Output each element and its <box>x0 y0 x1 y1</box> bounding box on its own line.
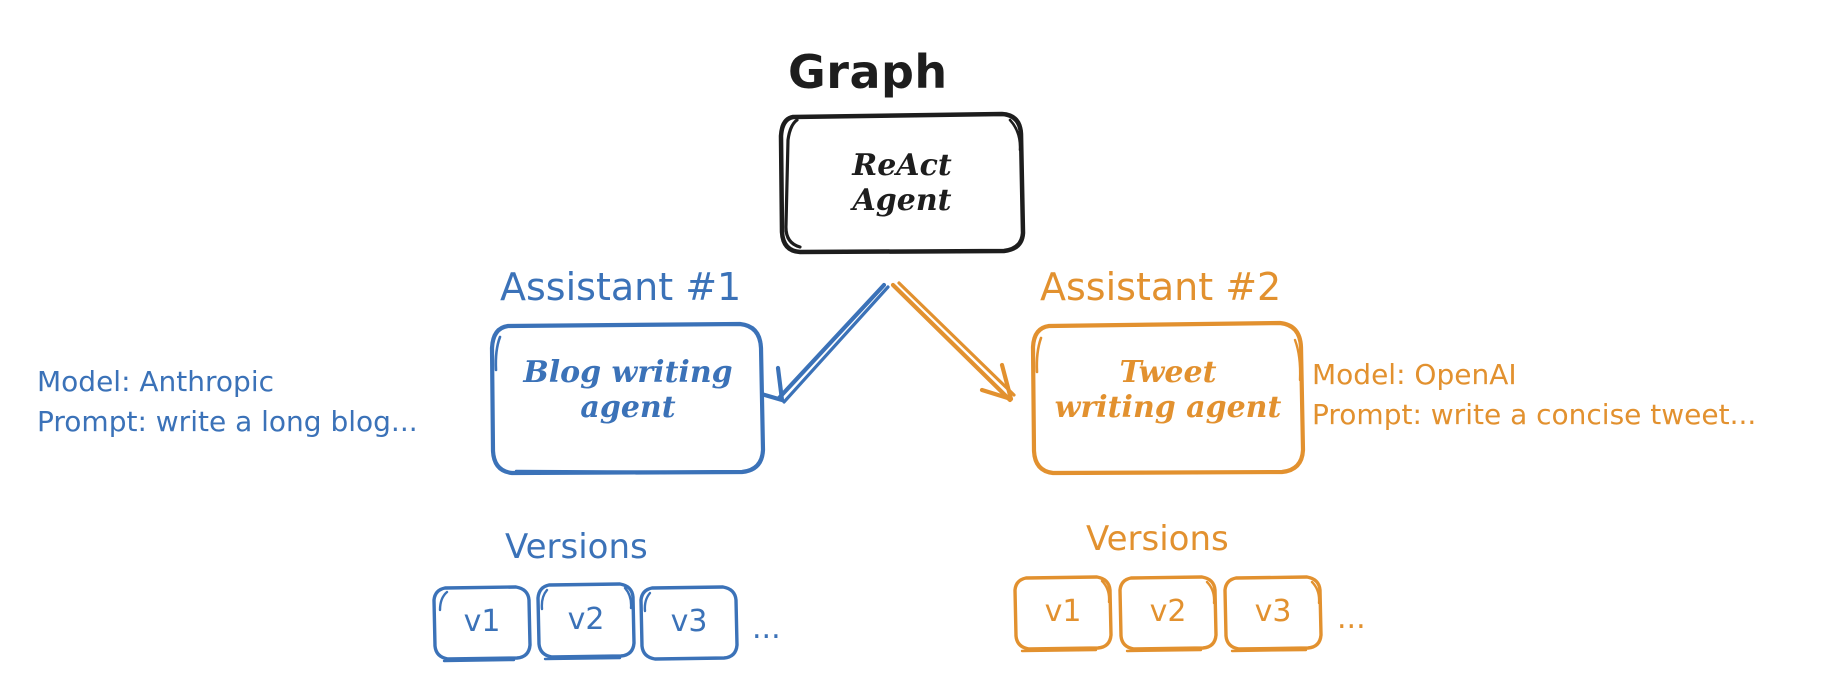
diagram-canvas <box>0 0 1824 692</box>
assistant-1-node-label: Blog writing agent <box>493 355 763 426</box>
assistant-2-version-v1[interactable]: v1 <box>1015 597 1111 627</box>
react-agent-node-label: ReAct Agent <box>782 148 1022 219</box>
assistant-1-versions-more: ... <box>752 614 781 644</box>
assistant-1-model-line: Model: Anthropic <box>37 362 418 402</box>
assistant-2-versions-more: ... <box>1337 604 1366 634</box>
assistant-2-versions-heading: Versions <box>1086 522 1229 556</box>
assistant-2-heading: Assistant #2 <box>1040 268 1281 306</box>
assistant-1-heading: Assistant #1 <box>500 268 741 306</box>
assistant-2-prompt-line: Prompt: write a concise tweet... <box>1312 395 1756 435</box>
assistant-1-version-v1[interactable]: v1 <box>434 607 530 637</box>
assistant-2-model-line: Model: OpenAI <box>1312 355 1756 395</box>
assistant-2-meta: Model: OpenAI Prompt: write a concise tw… <box>1312 355 1756 435</box>
graph-title: Graph <box>788 45 948 99</box>
edge-react-to-assistant-1 <box>758 285 888 402</box>
assistant-1-versions-heading: Versions <box>505 530 648 564</box>
assistant-1-prompt-line: Prompt: write a long blog... <box>37 402 418 442</box>
assistant-1-meta: Model: Anthropic Prompt: write a long bl… <box>37 362 418 442</box>
edge-react-to-assistant-2 <box>893 283 1014 400</box>
assistant-2-version-v3[interactable]: v3 <box>1225 597 1321 627</box>
assistant-1-version-v2[interactable]: v2 <box>538 605 634 635</box>
assistant-2-version-v2[interactable]: v2 <box>1120 597 1216 627</box>
assistant-1-version-v3[interactable]: v3 <box>641 607 737 637</box>
assistant-2-node-label: Tweet writing agent <box>1033 355 1303 426</box>
